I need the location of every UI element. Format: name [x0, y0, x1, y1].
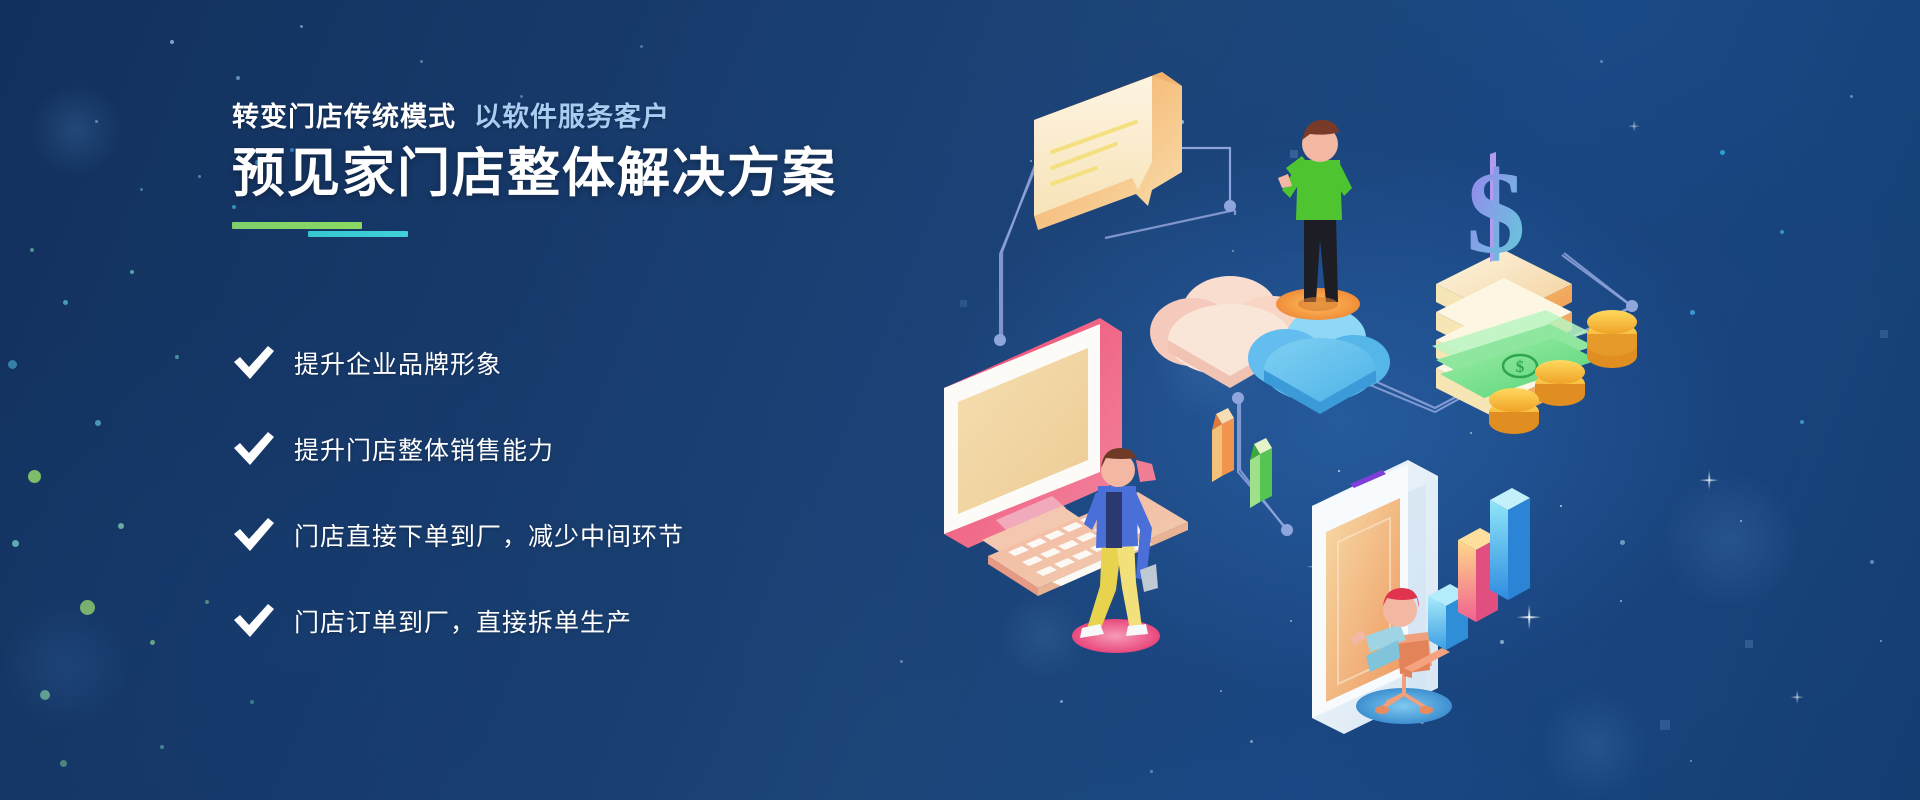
svg-text:$: $: [1516, 357, 1525, 376]
feature-label: 门店直接下单到厂，减少中间环节: [294, 517, 684, 553]
hero-text-block: 转变门店传统模式以软件服务客户 预见家门店整体解决方案: [232, 104, 992, 236]
check-icon: [232, 344, 276, 382]
check-icon: [232, 516, 276, 554]
feature-item: 门店订单到厂，直接拆单生产: [232, 598, 684, 644]
hero-subtitle: 转变门店传统模式以软件服务客户: [232, 104, 992, 131]
feature-item: 门店直接下单到厂，减少中间环节: [232, 512, 684, 558]
hero-illustration: $ $: [930, 40, 1670, 760]
feature-item: 提升门店整体销售能力: [232, 426, 684, 472]
feature-label: 门店订单到厂，直接拆单生产: [294, 603, 632, 639]
pencils: [1212, 408, 1272, 508]
hero-subtitle-part2: 以软件服务客户: [474, 102, 670, 132]
feature-item: 提升企业品牌形象: [232, 340, 684, 386]
hero-title: 预见家门店整体解决方案: [232, 147, 992, 200]
check-icon: [232, 430, 276, 468]
divider-bar-green: [232, 222, 362, 229]
svg-text:$: $: [1467, 147, 1526, 278]
feature-label: 提升门店整体销售能力: [294, 431, 554, 467]
speech-bubble: [1034, 72, 1182, 230]
hero-banner: 转变门店传统模式以软件服务客户 预见家门店整体解决方案 提升企业品牌形象 提升门…: [0, 0, 1920, 800]
hero-subtitle-part1: 转变门店传统模式: [232, 102, 456, 132]
feature-label: 提升企业品牌形象: [294, 345, 502, 381]
divider-bar-cyan: [308, 231, 408, 237]
dollar-sign: $: [1467, 147, 1526, 278]
feature-list: 提升企业品牌形象 提升门店整体销售能力 门店直接下单到厂，减少中间环节: [232, 340, 684, 684]
bar-chart: [1428, 488, 1530, 650]
person-standing-green: [1276, 120, 1360, 320]
title-divider: [232, 222, 532, 236]
check-icon: [232, 602, 276, 640]
